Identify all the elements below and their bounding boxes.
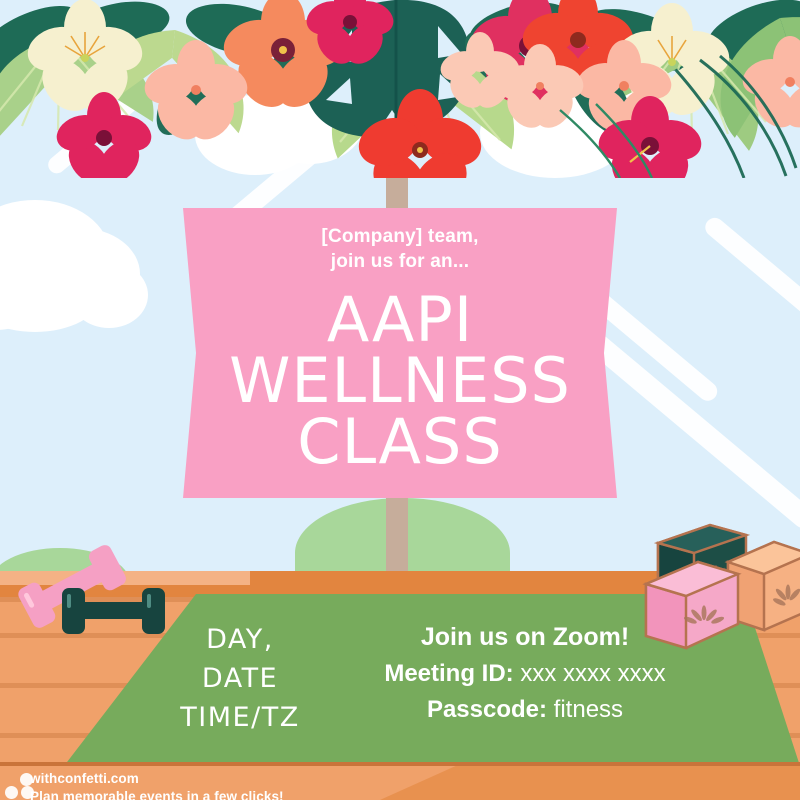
banner-subtitle-line2: join us for an... <box>321 249 478 274</box>
banner-subtitle: [Company] team, join us for an... <box>321 224 478 274</box>
footer-website[interactable]: withconfetti.com <box>30 770 284 788</box>
event-banner: [Company] team, join us for an... AAPI W… <box>183 208 617 498</box>
passcode-value: fitness <box>554 696 623 723</box>
banner-title-line3: CLASS <box>229 412 571 473</box>
footer-accent-wedge <box>380 766 800 800</box>
banner-title: AAPI WELLNESS CLASS <box>229 290 571 472</box>
banner-subtitle-line1: [Company] team, <box>321 224 478 249</box>
passcode-row: Passcode: fitness <box>360 692 690 728</box>
footer-top-edge <box>0 762 800 766</box>
meeting-block: Join us on Zoom! Meeting ID: xxx xxxx xx… <box>360 618 690 729</box>
footer-text: withconfetti.com Plan memorable events i… <box>30 770 284 800</box>
schedule-day: DAY, <box>150 620 330 659</box>
schedule-time: TIME/TZ <box>150 698 330 737</box>
meeting-id-row: Meeting ID: xxx xxxx xxxx <box>360 656 690 692</box>
meeting-id-value: xxx xxxx xxxx <box>520 660 665 687</box>
banner-title-line2: WELLNESS <box>229 351 571 412</box>
schedule-date: DATE <box>150 659 330 698</box>
meeting-heading: Join us on Zoom! <box>360 618 690 656</box>
meeting-id-label: Meeting ID: <box>384 660 513 687</box>
passcode-label: Passcode: <box>427 696 547 723</box>
dumbbell-cap <box>62 588 85 634</box>
tropical-foliage-border <box>0 0 800 175</box>
schedule-block: DAY, DATE TIME/TZ <box>150 620 330 737</box>
poster-canvas: [Company] team, join us for an... AAPI W… <box>0 0 800 800</box>
banner-title-line1: AAPI <box>229 290 571 351</box>
footer-tagline: Plan memorable events in a few clicks! <box>30 788 284 800</box>
footer-bar: withconfetti.com Plan memorable events i… <box>0 762 800 800</box>
logo-dot-left <box>5 786 18 799</box>
